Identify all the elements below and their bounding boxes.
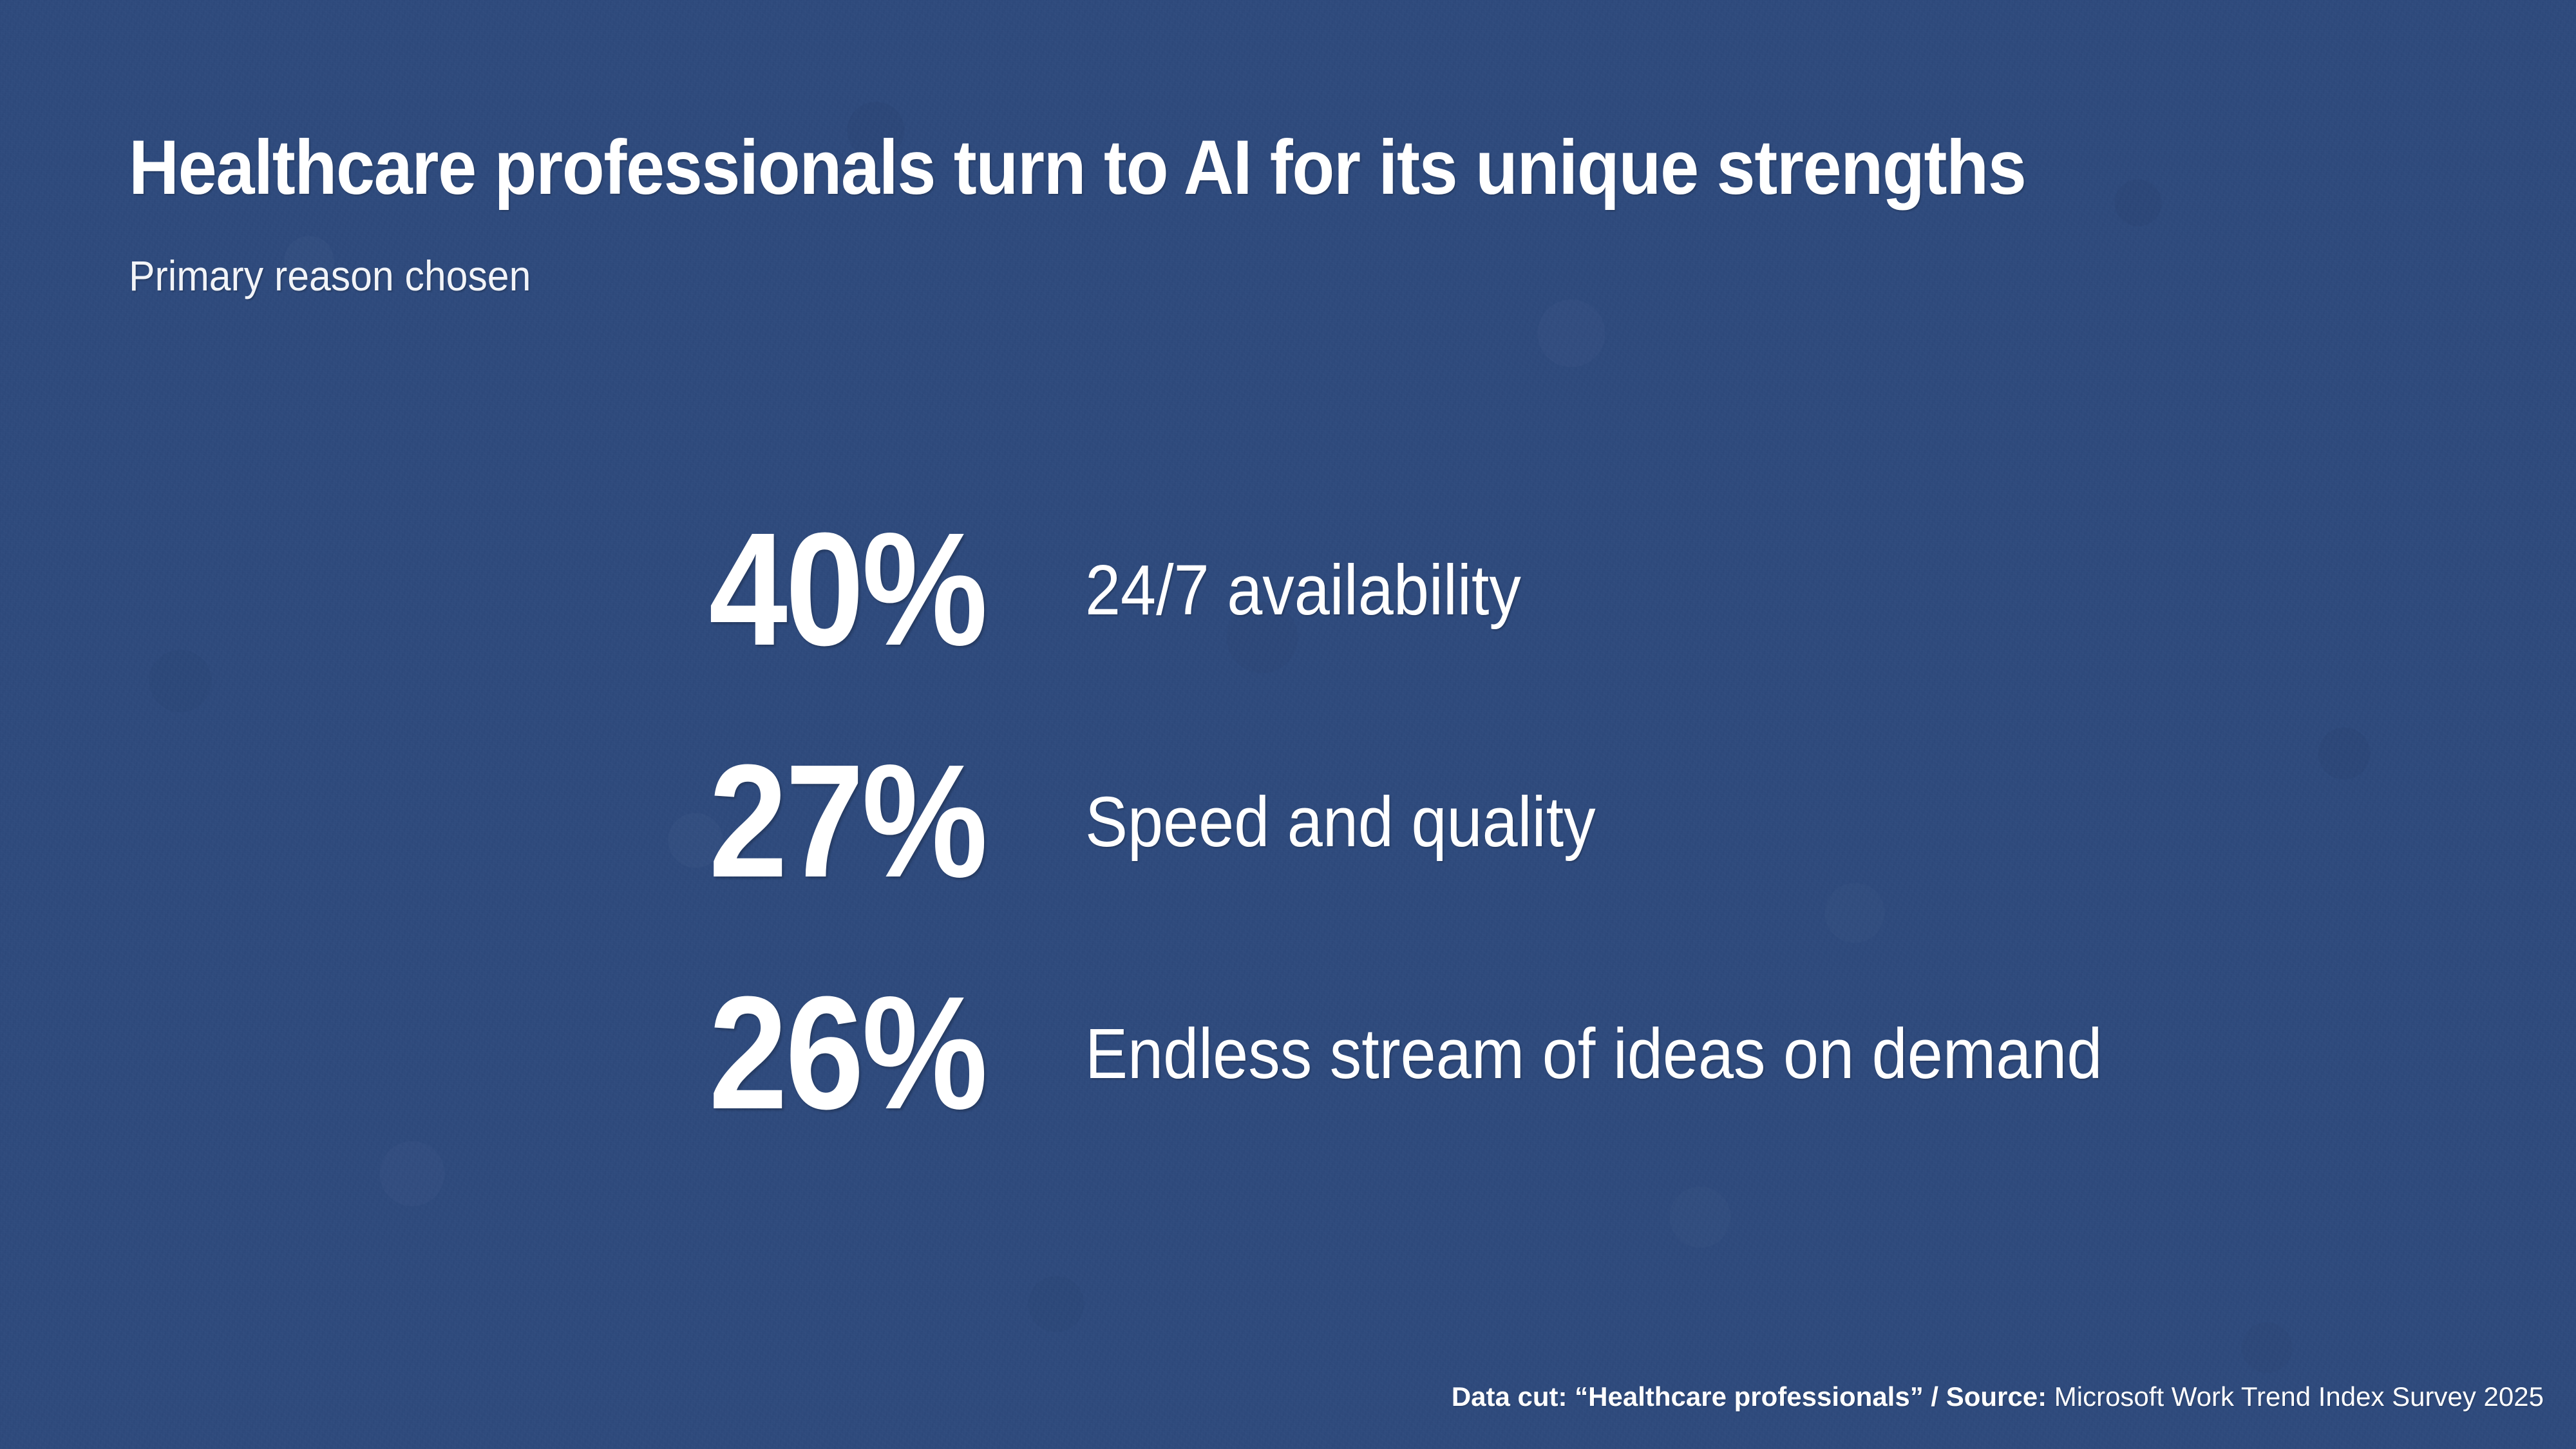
stat-label: 24/7 availability (1085, 555, 1521, 626)
slide: Healthcare professionals turn to AI for … (0, 0, 2576, 1449)
source-footnote: Data cut: “Healthcare professionals” / S… (1452, 1383, 2544, 1410)
page-subtitle: Primary reason chosen (129, 254, 531, 297)
slide-content: Healthcare professionals turn to AI for … (0, 0, 2576, 1449)
stat-value: 27% (708, 741, 985, 902)
source-footnote-value: Microsoft Work Trend Index Survey 2025 (2047, 1381, 2544, 1412)
source-footnote-label: Data cut: “Healthcare professionals” / S… (1452, 1381, 2047, 1412)
stat-row: 40% 24/7 availability (0, 509, 2576, 741)
stat-value: 40% (708, 509, 985, 670)
stat-row: 26% Endless stream of ideas on demand (0, 972, 2576, 1204)
stat-label: Speed and quality (1085, 787, 1596, 858)
stat-label: Endless stream of ideas on demand (1085, 1019, 2102, 1090)
page-title: Healthcare professionals turn to AI for … (129, 129, 2025, 206)
stat-value: 26% (708, 972, 985, 1133)
stat-list: 40% 24/7 availability 27% Speed and qual… (0, 509, 2576, 1204)
stat-row: 27% Speed and quality (0, 741, 2576, 972)
